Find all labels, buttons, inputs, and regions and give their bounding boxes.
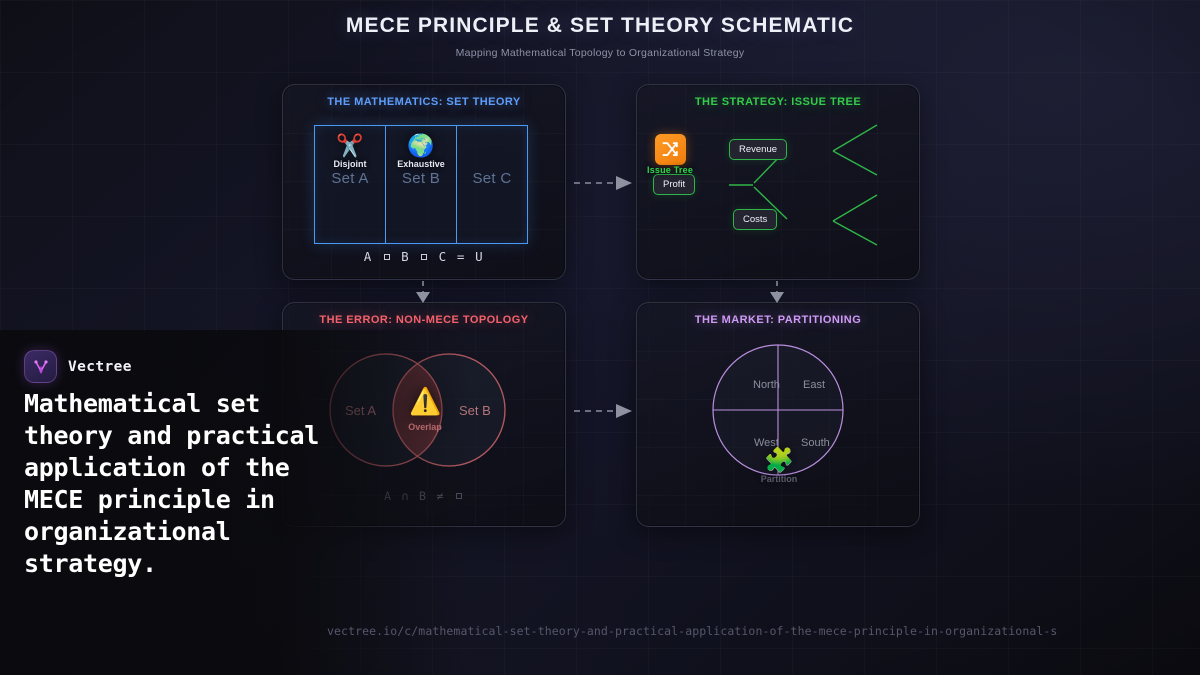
vectree-logo-icon (24, 350, 57, 383)
formula-token-eq: = (457, 249, 466, 264)
formula-token-a: A (364, 249, 373, 264)
partition-label: Partition (761, 474, 798, 484)
footer-url: vectree.io/c/mathematical-set-theory-and… (327, 624, 1057, 638)
set-label-c: Set C (457, 170, 527, 187)
tree-node-profit[interactable]: Profit (653, 174, 695, 195)
union-glyph-missing-1 (384, 254, 390, 260)
shuffle-icon (655, 134, 686, 165)
scissors-icon: ✂️ (336, 134, 363, 158)
issue-tree-badge: Issue Tree (647, 134, 693, 175)
overlay-headline: Mathematical set theory and practical ap… (24, 388, 354, 580)
set-cell-b[interactable]: Set B 🌍 Exhaustive (386, 126, 457, 243)
set-cell-a[interactable]: Set A ✂️ Disjoint (315, 126, 386, 243)
badge-exhaustive: 🌍 Exhaustive (386, 134, 456, 169)
formula-token-u: U (475, 249, 484, 264)
venn-overlap-label: Overlap (375, 422, 475, 432)
issue-tree-label: Issue Tree (647, 165, 693, 175)
set-cell-c[interactable]: Set C (457, 126, 527, 243)
partition-badge: 🧩 Partition (751, 448, 807, 484)
page-subtitle: Mapping Mathematical Topology to Organiz… (0, 47, 1200, 59)
brand-row[interactable]: Vectree (24, 350, 132, 383)
panel-issue-tree: THE STRATEGY: ISSUE TREE Issue Tree Prof… (636, 84, 920, 280)
tree-node-costs[interactable]: Costs (733, 209, 777, 230)
connector-error-to-market (572, 402, 634, 420)
panel-title-set-theory: THE MATHEMATICS: SET THEORY (283, 96, 565, 108)
badge-label-disjoint: Disjoint (334, 159, 367, 169)
brand-name: Vectree (68, 359, 132, 375)
header: MECE PRINCIPLE & SET THEORY SCHEMATIC Ma… (0, 14, 1200, 59)
panel-market-partitioning: THE MARKET: PARTITIONING North East West… (636, 302, 920, 527)
puzzle-piece-icon: 🧩 (764, 448, 794, 474)
formula-token-c: C (439, 249, 448, 264)
badge-label-exhaustive: Exhaustive (397, 159, 445, 169)
partition-circle (637, 303, 920, 527)
set-label-a: Set A (315, 170, 385, 187)
page-title: MECE PRINCIPLE & SET THEORY SCHEMATIC (0, 14, 1200, 38)
panel-set-theory: THE MATHEMATICS: SET THEORY Set A ✂️ Dis… (282, 84, 566, 280)
set-union-formula: A B C = U (283, 249, 565, 264)
badge-disjoint: ✂️ Disjoint (315, 134, 385, 169)
set-label-b: Set B (386, 170, 456, 187)
union-glyph-missing-2 (421, 254, 427, 260)
set-partition-row: Set A ✂️ Disjoint Set B 🌍 Exhaustive Set… (314, 125, 528, 244)
quadrant-label-north: North (753, 379, 780, 391)
quadrant-label-east: East (803, 379, 825, 391)
tree-node-revenue[interactable]: Revenue (729, 139, 787, 160)
connector-math-to-tree (572, 174, 634, 192)
formula-token-b: B (401, 249, 410, 264)
connector-math-to-error (413, 280, 433, 304)
warning-triangle-icon: ⚠️ (409, 388, 441, 414)
connector-tree-to-market (767, 280, 787, 304)
globe-icon: 🌍 (407, 134, 434, 158)
